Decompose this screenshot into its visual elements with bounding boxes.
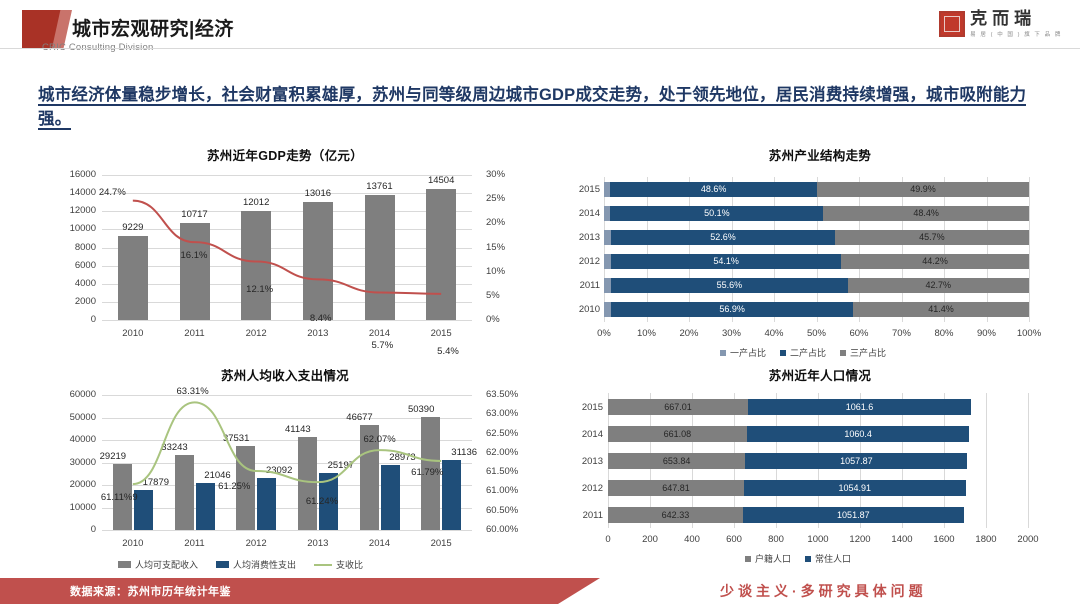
x-axis-tick: 100% bbox=[1011, 328, 1047, 339]
x-axis-tick: 2010 bbox=[111, 538, 155, 549]
x-axis-tick: 1000 bbox=[800, 534, 836, 545]
line-value-label: 24.7% bbox=[99, 187, 126, 198]
legend-label: 支收比 bbox=[336, 558, 363, 571]
y-axis-tick: 2012 bbox=[570, 256, 600, 267]
y-axis-tick: 20000 bbox=[32, 479, 96, 490]
bar-segment bbox=[604, 254, 611, 269]
chart-title-income: 苏州人均收入支出情况 bbox=[30, 365, 540, 384]
x-axis-tick: 2014 bbox=[358, 538, 402, 549]
x-axis-tick: 800 bbox=[758, 534, 794, 545]
legend-population: 户籍人口常住人口 bbox=[745, 552, 851, 565]
y2-axis-tick: 5% bbox=[486, 290, 500, 301]
line-value-label: 5.4% bbox=[437, 346, 459, 357]
x-axis-tick: 80% bbox=[926, 328, 962, 339]
line-value-label: 62.07% bbox=[364, 434, 410, 445]
y2-axis-tick: 10% bbox=[486, 266, 505, 277]
x-axis-tick: 40% bbox=[756, 328, 792, 339]
legend-swatch bbox=[216, 561, 229, 568]
x-axis-tick: 1600 bbox=[926, 534, 962, 545]
y2-axis-tick: 15% bbox=[486, 242, 505, 253]
gridline bbox=[902, 177, 903, 322]
legend-label: 二产占比 bbox=[790, 346, 826, 359]
y2-axis-tick: 62.00% bbox=[486, 447, 518, 458]
growth-rate-line bbox=[102, 175, 472, 320]
legend-swatch bbox=[840, 350, 846, 356]
chart-title-gdp: 苏州近年GDP走势（亿元） bbox=[30, 145, 540, 164]
legend-label: 人均可支配收入 bbox=[135, 558, 198, 571]
legend-item: 三产占比 bbox=[840, 346, 886, 359]
legend-item: 人均可支配收入 bbox=[118, 558, 198, 571]
segment-value-label: 667.01 bbox=[608, 402, 748, 412]
page-header: 城市宏观研究|经济 CRIC Consulting Division 克而瑞 易… bbox=[0, 0, 1080, 50]
y2-axis-tick: 25% bbox=[486, 193, 505, 204]
plot-area-gdp: 9229107171201213016137611450424.7%16.1%1… bbox=[102, 175, 472, 320]
y-axis-tick: 16000 bbox=[32, 169, 96, 180]
headline-text: 城市经济体量稳步增长，社会财富积累雄厚，苏州与同等级周边城市GDP成交走势，处于… bbox=[38, 86, 1026, 130]
x-axis-tick: 2014 bbox=[358, 328, 402, 339]
gridline bbox=[774, 177, 775, 322]
segment-value-label: 48.6% bbox=[610, 184, 817, 194]
x-axis-tick: 600 bbox=[716, 534, 752, 545]
bar-segment bbox=[604, 230, 611, 245]
legend-item: 一产占比 bbox=[720, 346, 766, 359]
seal-icon bbox=[939, 11, 965, 37]
gridline bbox=[944, 177, 945, 322]
y2-axis-tick: 60.00% bbox=[486, 524, 518, 535]
legend-item: 户籍人口 bbox=[745, 552, 791, 565]
chart-population: 苏州近年人口情况667.011061.6661.081060.4653.8410… bbox=[570, 365, 1070, 580]
y-axis-tick: 2014 bbox=[570, 208, 600, 219]
line-value-label: 61.24% bbox=[306, 496, 352, 507]
y2-axis-tick: 30% bbox=[486, 169, 505, 180]
legend-label: 一产占比 bbox=[730, 346, 766, 359]
y2-axis-tick: 61.00% bbox=[486, 485, 518, 496]
y-axis-tick: 30000 bbox=[32, 457, 96, 468]
y-axis-tick: 2014 bbox=[570, 429, 603, 440]
legend-swatch bbox=[780, 350, 786, 356]
x-axis-tick: 70% bbox=[884, 328, 920, 339]
y2-axis-tick: 63.00% bbox=[486, 408, 518, 419]
line-value-label: 61.11%9 bbox=[101, 492, 147, 503]
x-axis-tick: 400 bbox=[674, 534, 710, 545]
legend-industry: 一产占比二产占比三产占比 bbox=[720, 346, 886, 359]
line-value-label: 63.31% bbox=[177, 386, 223, 397]
legend-income: 人均可支配收入人均消费性支出支收比 bbox=[118, 558, 363, 571]
segment-value-label: 52.6% bbox=[611, 232, 835, 242]
x-axis-tick: 20% bbox=[671, 328, 707, 339]
legend-swatch bbox=[720, 350, 726, 356]
x-axis-tick: 2000 bbox=[1010, 534, 1046, 545]
legend-item: 人均消费性支出 bbox=[216, 558, 296, 571]
segment-value-label: 55.6% bbox=[611, 280, 847, 290]
y-axis-tick: 2015 bbox=[570, 402, 603, 413]
legend-item: 二产占比 bbox=[780, 346, 826, 359]
x-axis-tick: 200 bbox=[632, 534, 668, 545]
segment-value-label: 49.9% bbox=[817, 184, 1029, 194]
segment-value-label: 56.9% bbox=[611, 304, 853, 314]
gridline bbox=[986, 393, 987, 528]
x-axis-tick: 2012 bbox=[234, 328, 278, 339]
page-title: 城市宏观研究|经济 bbox=[72, 14, 234, 41]
line-value-label: 12.1% bbox=[246, 284, 273, 295]
gridline bbox=[647, 177, 648, 322]
gridline bbox=[604, 177, 605, 322]
y-axis-tick: 2011 bbox=[570, 280, 600, 291]
y-axis-tick: 2013 bbox=[570, 232, 600, 243]
legend-label: 人均消费性支出 bbox=[233, 558, 296, 571]
x-axis-tick: 2013 bbox=[296, 328, 340, 339]
gridline bbox=[987, 177, 988, 322]
x-axis-tick: 1200 bbox=[842, 534, 878, 545]
x-axis-tick: 30% bbox=[714, 328, 750, 339]
segment-value-label: 1051.87 bbox=[743, 510, 964, 520]
chart-title-industry: 苏州产业结构走势 bbox=[570, 145, 1070, 164]
plot-area-population: 667.011061.6661.081060.4653.841057.87647… bbox=[608, 393, 1028, 528]
segment-value-label: 45.7% bbox=[835, 232, 1029, 242]
y-axis-tick: 0 bbox=[32, 314, 96, 325]
legend-swatch bbox=[745, 556, 751, 562]
y2-axis-tick: 62.50% bbox=[486, 428, 518, 439]
line-value-label: 16.1% bbox=[181, 250, 208, 261]
x-axis-tick: 2010 bbox=[111, 328, 155, 339]
y2-axis-tick: 63.50% bbox=[486, 389, 518, 400]
legend-item: 支收比 bbox=[314, 558, 363, 571]
headline: 城市经济体量稳步增长，社会财富积累雄厚，苏州与同等级周边城市GDP成交走势，处于… bbox=[38, 84, 1058, 132]
y2-axis-tick: 60.50% bbox=[486, 505, 518, 516]
x-axis-tick: 2011 bbox=[173, 328, 217, 339]
y-axis-tick: 2010 bbox=[570, 304, 600, 315]
x-axis-tick: 1400 bbox=[884, 534, 920, 545]
x-axis-tick: 10% bbox=[629, 328, 665, 339]
chart-industry: 苏州产业结构走势48.6%49.9%50.1%48.4%52.6%45.7%54… bbox=[570, 145, 1070, 370]
segment-value-label: 1060.4 bbox=[747, 429, 970, 439]
segment-value-label: 1057.87 bbox=[745, 456, 967, 466]
line-value-label: 8.4% bbox=[310, 313, 332, 324]
header-divider bbox=[0, 48, 1080, 49]
x-axis-tick: 60% bbox=[841, 328, 877, 339]
y-axis-tick: 2000 bbox=[32, 296, 96, 307]
segment-value-label: 42.7% bbox=[848, 280, 1029, 290]
bar-segment bbox=[604, 302, 611, 317]
y-axis-tick: 2012 bbox=[570, 483, 603, 494]
footer-slogan: 少谈主义·多研究具体问题 bbox=[720, 581, 927, 601]
plot-area-industry: 48.6%49.9%50.1%48.4%52.6%45.7%54.1%44.2%… bbox=[604, 177, 1029, 322]
segment-value-label: 44.2% bbox=[841, 256, 1029, 266]
x-axis-tick: 90% bbox=[969, 328, 1005, 339]
ratio-line bbox=[102, 395, 472, 530]
y-axis-tick: 4000 bbox=[32, 278, 96, 289]
logo-text: 克而瑞 bbox=[970, 10, 1062, 27]
gridline bbox=[1028, 393, 1029, 528]
gridline bbox=[1029, 177, 1030, 322]
chart-income: 苏州人均收入支出情况292191787933243210463753123092… bbox=[30, 365, 540, 580]
y-axis-tick: 10000 bbox=[32, 502, 96, 513]
chart-title-population: 苏州近年人口情况 bbox=[570, 365, 1070, 384]
legend-item: 常住人口 bbox=[805, 552, 851, 565]
x-axis-tick: 2013 bbox=[296, 538, 340, 549]
gridline bbox=[102, 530, 472, 531]
segment-value-label: 50.1% bbox=[610, 208, 823, 218]
line-value-label: 61.79% bbox=[411, 467, 457, 478]
segment-value-label: 647.81 bbox=[608, 483, 744, 493]
segment-value-label: 41.4% bbox=[853, 304, 1029, 314]
logo-tagline: 易 居 ( 中 国 ) 旗 下 品 牌 bbox=[970, 30, 1062, 38]
segment-value-label: 54.1% bbox=[611, 256, 841, 266]
y-axis-tick: 0 bbox=[32, 524, 96, 535]
legend-swatch bbox=[118, 561, 131, 568]
segment-value-label: 642.33 bbox=[608, 510, 743, 520]
gridline bbox=[817, 177, 818, 322]
gridline bbox=[689, 177, 690, 322]
x-axis-tick: 2015 bbox=[419, 328, 463, 339]
y-axis-tick: 12000 bbox=[32, 205, 96, 216]
y-axis-tick: 2013 bbox=[570, 456, 603, 467]
bar-segment bbox=[604, 278, 611, 293]
y-axis-tick: 50000 bbox=[32, 412, 96, 423]
y2-axis-tick: 61.50% bbox=[486, 466, 518, 477]
y-axis-tick: 60000 bbox=[32, 389, 96, 400]
legend-label: 户籍人口 bbox=[755, 552, 791, 565]
gridline bbox=[102, 320, 472, 321]
y-axis-tick: 40000 bbox=[32, 434, 96, 445]
legend-swatch bbox=[805, 556, 811, 562]
chart-gdp: 苏州近年GDP走势（亿元）922910717120121301613761145… bbox=[30, 145, 540, 360]
x-axis-tick: 1800 bbox=[968, 534, 1004, 545]
x-axis-tick: 2015 bbox=[419, 538, 463, 549]
y-axis-tick: 2015 bbox=[570, 184, 600, 195]
data-source-label: 数据来源：苏州市历年统计年鉴 bbox=[70, 583, 231, 599]
x-axis-tick: 2011 bbox=[173, 538, 217, 549]
x-axis-tick: 50% bbox=[799, 328, 835, 339]
y2-axis-tick: 20% bbox=[486, 217, 505, 228]
x-axis-tick: 2012 bbox=[234, 538, 278, 549]
brand-logo: 克而瑞 易 居 ( 中 国 ) 旗 下 品 牌 bbox=[939, 8, 1062, 40]
x-axis-tick: 0 bbox=[590, 534, 626, 545]
y-axis-tick: 14000 bbox=[32, 187, 96, 198]
gridline bbox=[859, 177, 860, 322]
gridline bbox=[732, 177, 733, 322]
segment-value-label: 661.08 bbox=[608, 429, 747, 439]
y-axis-tick: 2011 bbox=[570, 510, 603, 521]
segment-value-label: 48.4% bbox=[823, 208, 1029, 218]
legend-label: 三产占比 bbox=[850, 346, 886, 359]
legend-label: 常住人口 bbox=[815, 552, 851, 565]
plot-area-income: 2921917879332432104637531230924114325197… bbox=[102, 395, 472, 530]
y-axis-tick: 8000 bbox=[32, 242, 96, 253]
segment-value-label: 1061.6 bbox=[748, 402, 971, 412]
segment-value-label: 653.84 bbox=[608, 456, 745, 466]
line-value-label: 61.25% bbox=[218, 481, 264, 492]
y-axis-tick: 10000 bbox=[32, 223, 96, 234]
x-axis-tick: 0% bbox=[586, 328, 622, 339]
legend-swatch bbox=[314, 564, 332, 566]
segment-value-label: 1054.91 bbox=[744, 483, 966, 493]
y2-axis-tick: 0% bbox=[486, 314, 500, 325]
y-axis-tick: 6000 bbox=[32, 260, 96, 271]
line-value-label: 5.7% bbox=[372, 340, 394, 351]
